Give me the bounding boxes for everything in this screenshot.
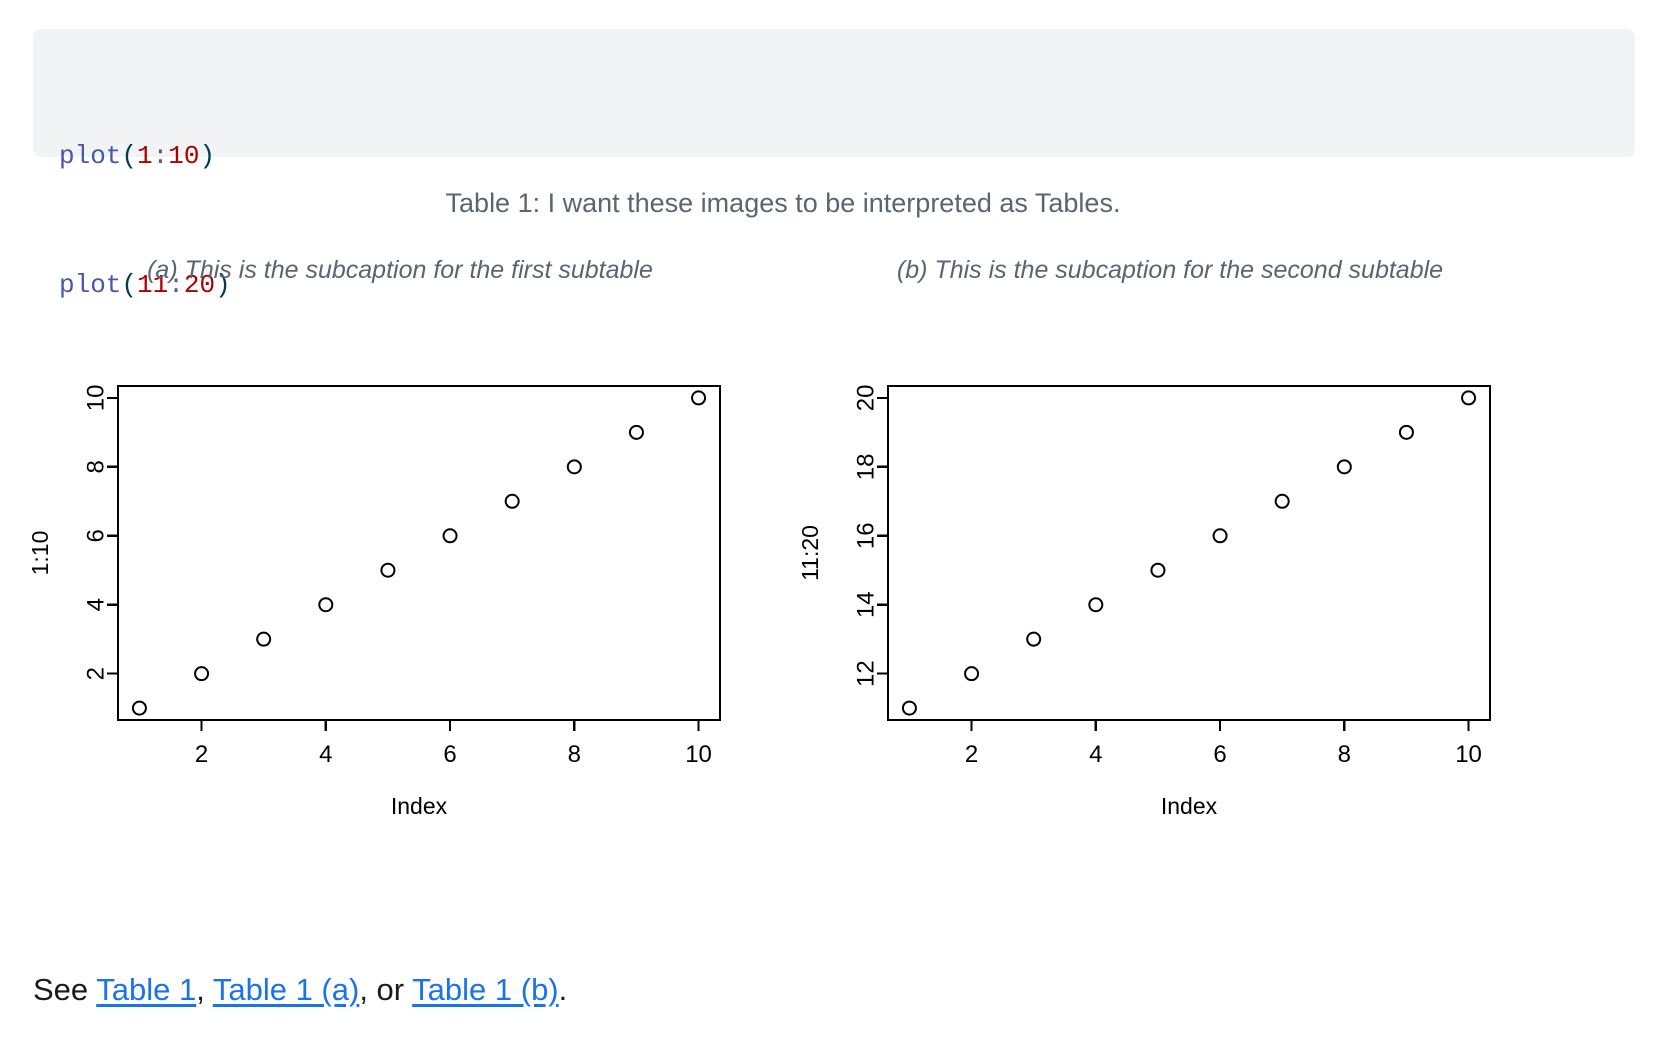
x-axis-tick-label: 6 bbox=[1213, 741, 1226, 768]
data-point bbox=[319, 598, 332, 611]
data-point bbox=[1151, 564, 1164, 577]
x-axis-tick-label: 2 bbox=[965, 741, 978, 768]
scatter-plot-b: 2468101214161820Index11:20 bbox=[790, 360, 1550, 860]
data-point bbox=[195, 667, 208, 680]
link-table-1-b[interactable]: Table 1 (b) bbox=[412, 972, 558, 1007]
data-point bbox=[692, 391, 705, 404]
y-axis-tick-label: 8 bbox=[83, 460, 110, 473]
link-table-1[interactable]: Table 1 bbox=[96, 972, 196, 1007]
y-axis-tick-label: 18 bbox=[853, 453, 880, 480]
footer-sep-2: , or bbox=[359, 972, 412, 1007]
footer-sep-1: , bbox=[196, 972, 213, 1007]
code-line: plot(1:10) bbox=[59, 135, 1609, 178]
data-point bbox=[965, 667, 978, 680]
table-caption: Table 1: I want these images to be inter… bbox=[0, 188, 1566, 219]
scatter-plot-b-svg: 2468101214161820Index11:20 bbox=[790, 360, 1550, 860]
code-token: 1 bbox=[137, 141, 153, 171]
code-token: ) bbox=[199, 141, 215, 171]
plot-panel-border bbox=[888, 386, 1490, 720]
scatter-plot-a-svg: 246810246810Index1:10 bbox=[20, 360, 780, 860]
x-axis-tick-label: 4 bbox=[319, 741, 332, 768]
data-point bbox=[381, 564, 394, 577]
data-point bbox=[1400, 426, 1413, 439]
x-axis-title: Index bbox=[391, 793, 448, 819]
footer-suffix: . bbox=[559, 972, 568, 1007]
y-axis-tick-label: 6 bbox=[83, 529, 110, 542]
data-point bbox=[1214, 529, 1227, 542]
data-point bbox=[1089, 598, 1102, 611]
data-point bbox=[444, 529, 457, 542]
footer-prefix: See bbox=[33, 972, 96, 1007]
x-axis-tick-label: 10 bbox=[1455, 741, 1482, 768]
code-token: ( bbox=[121, 141, 137, 171]
data-point bbox=[1276, 495, 1289, 508]
document-page: plot(1:10) plot(11:20) Table 1: I want t… bbox=[0, 0, 1670, 1052]
data-point bbox=[506, 495, 519, 508]
y-axis-title: 11:20 bbox=[797, 525, 823, 581]
data-point bbox=[903, 702, 916, 715]
y-axis-tick-label: 16 bbox=[853, 522, 880, 549]
y-axis-tick-label: 20 bbox=[853, 385, 880, 412]
y-axis-tick-label: 12 bbox=[853, 660, 880, 687]
data-point bbox=[257, 633, 270, 646]
y-axis-tick-label: 14 bbox=[853, 591, 880, 618]
code-token: : bbox=[153, 141, 169, 171]
code-token: plot bbox=[59, 141, 121, 171]
y-axis-title: 1:10 bbox=[27, 531, 53, 576]
y-axis-tick-label: 2 bbox=[83, 667, 110, 680]
x-axis-tick-label: 4 bbox=[1089, 741, 1102, 768]
x-axis-tick-label: 6 bbox=[443, 741, 456, 768]
x-axis-tick-label: 8 bbox=[1338, 741, 1351, 768]
code-block: plot(1:10) plot(11:20) bbox=[33, 29, 1635, 157]
plot-panel-border bbox=[118, 386, 720, 720]
x-axis-tick-label: 8 bbox=[568, 741, 581, 768]
data-point bbox=[1027, 633, 1040, 646]
data-point bbox=[568, 460, 581, 473]
x-axis-tick-label: 10 bbox=[685, 741, 712, 768]
data-point bbox=[1338, 460, 1351, 473]
footer-text: See Table 1, Table 1 (a), or Table 1 (b)… bbox=[33, 972, 567, 1008]
data-point bbox=[1462, 391, 1475, 404]
data-point bbox=[630, 426, 643, 439]
y-axis-tick-label: 10 bbox=[83, 385, 110, 412]
link-table-1-a[interactable]: Table 1 (a) bbox=[213, 972, 359, 1007]
scatter-plot-a: 246810246810Index1:10 bbox=[20, 360, 780, 860]
code-token: 10 bbox=[168, 141, 199, 171]
subcaption-a: (a) This is the subcaption for the first… bbox=[0, 256, 800, 285]
y-axis-tick-label: 4 bbox=[83, 598, 110, 611]
x-axis-tick-label: 2 bbox=[195, 741, 208, 768]
x-axis-title: Index bbox=[1161, 793, 1218, 819]
subcaption-b: (b) This is the subcaption for the secon… bbox=[770, 256, 1570, 285]
data-point bbox=[133, 702, 146, 715]
